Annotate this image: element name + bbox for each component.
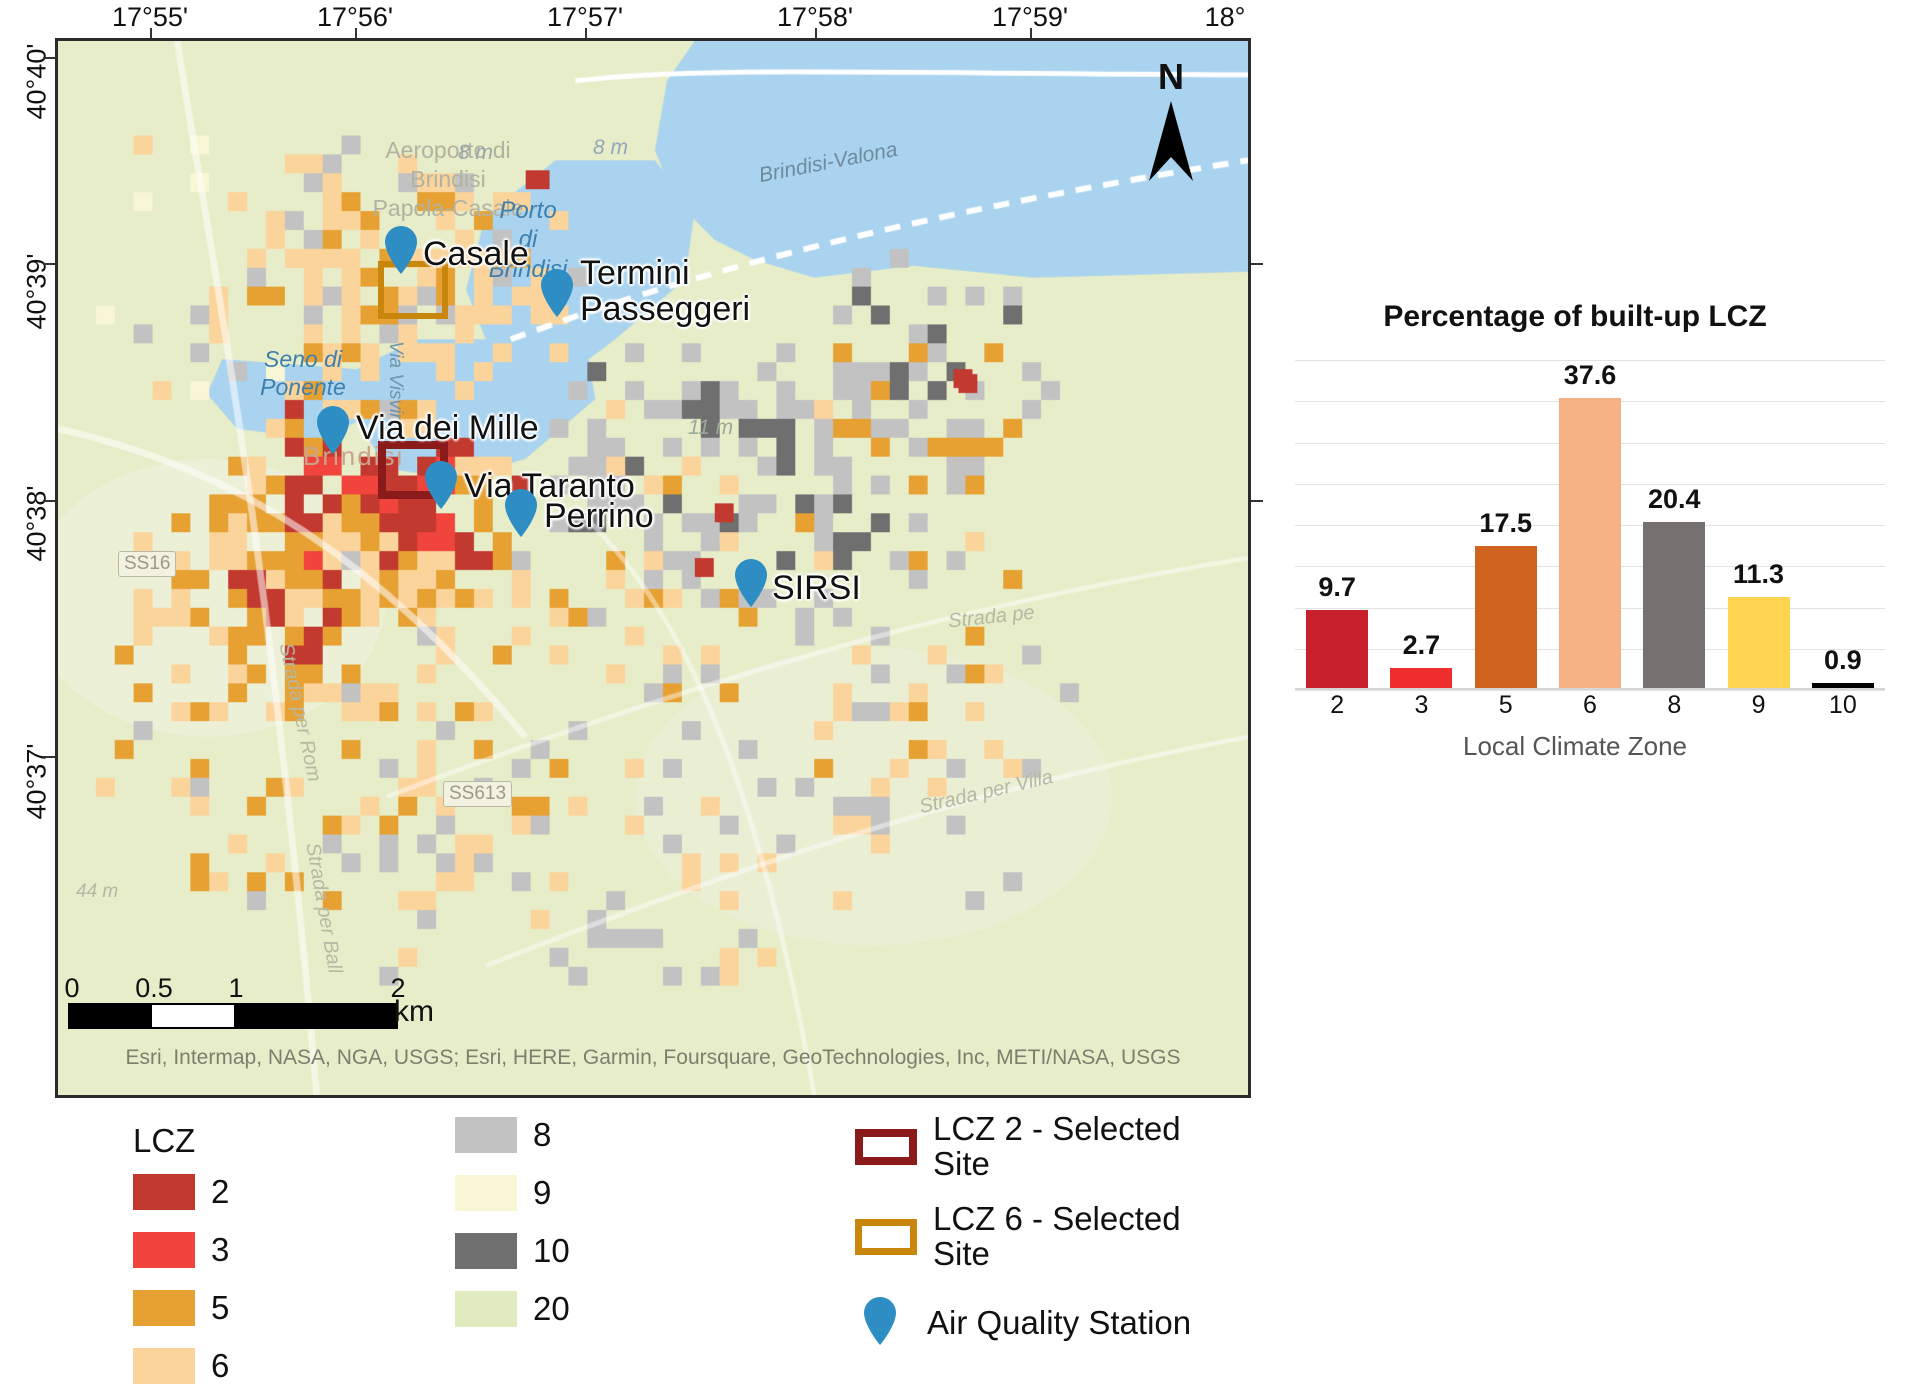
legend-item-lcz-2[interactable]: 2 [133,1174,229,1210]
rect-outline-icon [855,1219,917,1255]
scale-number: 1 [228,973,243,1004]
chart-bar-value: 11.3 [1733,559,1784,590]
scale-bar: 0 0.5 1 2 [68,973,398,1029]
legend-label: LCZ 6 - Selected Site [933,1202,1181,1272]
lat-tick-label: 40°40' [22,44,53,120]
map-pin-icon[interactable] [384,226,418,274]
lcz-map[interactable]: Aeroporto di Brindisi Papola-Casale 8 m … [55,38,1251,1098]
legend-item-lcz2-site[interactable]: LCZ 2 - Selected Site [855,1112,1181,1182]
chart-x-tick-labels: 23568910 [1295,691,1885,720]
scale-number: 0 [64,973,79,1004]
chart-bar-rect [1475,546,1537,690]
map-panel: 17°55' 17°56' 17°57' 17°58' 17°59' 18° 4… [55,38,1251,1098]
scale-unit-label: km [394,995,434,1029]
chart-bars: 9.72.717.537.620.411.30.9 [1295,360,1885,690]
chart-bar-rect [1643,522,1705,690]
color-swatch-icon [455,1117,517,1153]
color-swatch-icon [133,1232,195,1268]
legend-label: 8 [533,1118,551,1153]
legend-item-lcz-5[interactable]: 5 [133,1290,229,1326]
chart-bar[interactable]: 20.4 [1643,360,1705,690]
legend-label: Air Quality Station [927,1306,1191,1341]
chart-x-tick: 2 [1306,691,1368,720]
map-pin-icon[interactable] [734,559,768,607]
legend-label: 3 [211,1233,229,1268]
chart-bar[interactable]: 0.9 [1812,360,1874,690]
lat-tick-right [1249,263,1263,265]
color-swatch-icon [455,1175,517,1211]
chart-bar-rect [1390,668,1452,690]
station-label-casale: Casale [423,237,529,273]
scale-bar-segments [68,1003,398,1029]
chart-bar-value: 20.4 [1648,484,1701,515]
chart-x-axis [1295,688,1885,690]
legend-label: LCZ 2 - Selected Site [933,1112,1181,1182]
legend-label: 5 [211,1291,229,1326]
legend-label: 20 [533,1292,570,1327]
map-attribution: Esri, Intermap, NASA, NGA, USGS; Esri, H… [58,1043,1248,1073]
chart-bar[interactable]: 2.7 [1390,360,1452,690]
map-pin-icon[interactable] [504,489,538,537]
chart-plot-area: 9.72.717.537.620.411.30.9 [1295,360,1885,690]
legend-item-lcz-9[interactable]: 9 [455,1175,551,1211]
legend-item-lcz-6[interactable]: 6 [133,1348,229,1384]
chart-bar-value: 9.7 [1318,572,1356,603]
chart-title: Percentage of built-up LCZ [1255,300,1895,334]
legend-item-air-quality-station[interactable]: Air Quality Station [863,1297,1191,1350]
chart-bar[interactable]: 9.7 [1306,360,1368,690]
chart-bar-value: 37.6 [1564,360,1617,391]
color-swatch-icon [455,1233,517,1269]
north-arrow-label: N [1136,59,1206,95]
place-label-elev-11m: 11 m [688,416,733,440]
legend-item-lcz-3[interactable]: 3 [133,1232,229,1268]
north-arrow-glyph [1136,95,1206,185]
chart-bar-value: 17.5 [1479,508,1532,539]
station-label-termini-passeggeri: Termini Passeggeri [580,256,750,327]
north-arrow: N [1136,59,1206,189]
chart-x-tick: 10 [1812,691,1874,720]
color-swatch-icon [133,1348,195,1384]
chart-x-tick: 3 [1390,691,1452,720]
chart-x-tick: 8 [1643,691,1705,720]
lat-tick-label: 40°38' [22,486,53,562]
map-pin-icon[interactable] [424,461,458,509]
lat-tick-label: 40°37' [22,744,53,820]
legend-label: 2 [211,1175,229,1210]
scale-number: 0.5 [135,973,173,1004]
rect-outline-icon [855,1129,917,1165]
place-label-depth-8m-a: 8 m [458,141,493,165]
legend-label: 9 [533,1176,551,1211]
legend-item-lcz-20[interactable]: 20 [455,1291,570,1327]
color-swatch-icon [133,1174,195,1210]
map-legend: LCZ 2 3 5 6 8 9 10 20 LCZ 2 - Selected S… [55,1112,1255,1342]
chart-x-axis-label: Local Climate Zone [1255,731,1895,762]
place-label-seno-di-ponente: Seno di Ponente [238,346,368,401]
map-pin-icon [863,1297,903,1350]
chart-bar-rect [1559,398,1621,690]
place-label-depth-8m-b: 8 m [593,136,628,160]
chart-x-tick: 6 [1559,691,1621,720]
legend-title-lcz: LCZ [133,1122,195,1160]
legend-label: 10 [533,1234,570,1269]
road-shield-ss613: SS613 [443,781,512,807]
color-swatch-icon [455,1291,517,1327]
chart-bar-rect [1306,610,1368,690]
legend-label: 6 [211,1349,229,1384]
map-pin-icon[interactable] [540,269,574,317]
chart-bar[interactable]: 37.6 [1559,360,1621,690]
station-label-sirsi: SIRSI [772,571,861,607]
chart-bar-rect [1728,597,1790,690]
chart-x-tick: 9 [1728,691,1790,720]
legend-item-lcz6-site[interactable]: LCZ 6 - Selected Site [855,1202,1181,1272]
lon-tick-label: 18° [1205,2,1246,33]
station-label-via-dei-mille: Via dei Mille [356,411,539,447]
chart-bar[interactable]: 11.3 [1728,360,1790,690]
station-label-perrino: Perrino [544,499,654,535]
color-swatch-icon [133,1290,195,1326]
built-up-lcz-chart: Percentage of built-up LCZ 9.72.717.537.… [1255,300,1895,760]
map-pin-icon[interactable] [316,406,350,454]
chart-bar[interactable]: 17.5 [1475,360,1537,690]
chart-x-tick: 5 [1475,691,1537,720]
chart-bar-value: 0.9 [1824,645,1862,676]
legend-item-lcz-10[interactable]: 10 [455,1233,570,1269]
road-shield-ss16: SS16 [118,551,176,577]
map-raster [58,41,1248,1095]
place-label-elev-44m: 44 m [76,881,118,903]
chart-bar-value: 2.7 [1403,630,1441,661]
legend-item-lcz-8[interactable]: 8 [455,1117,551,1153]
